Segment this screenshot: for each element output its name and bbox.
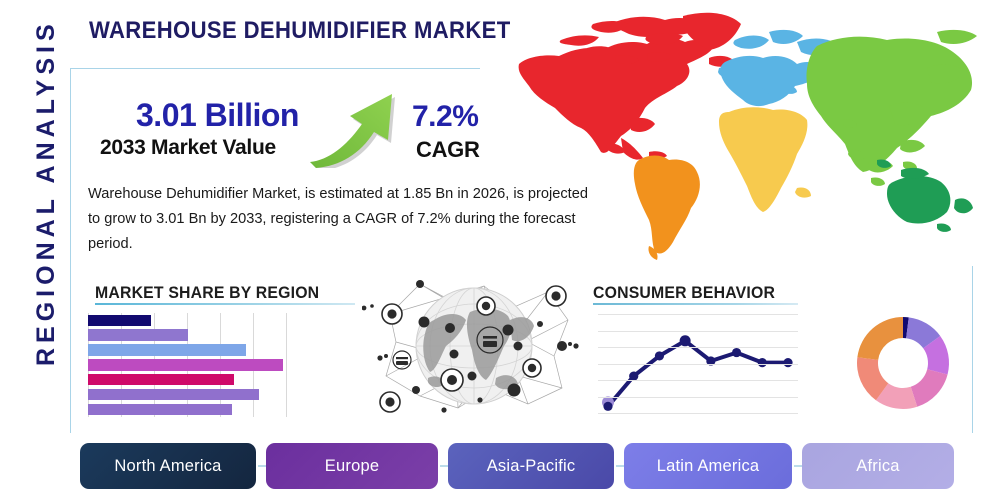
gridline [598, 364, 798, 365]
bar-5 [88, 374, 234, 385]
consumer-behavior-donut-chart [851, 311, 955, 415]
section-rule-consumer-behavior [593, 303, 798, 305]
global-network-globe-icon [362, 268, 586, 424]
region-tab-africa[interactable]: Africa [802, 443, 954, 489]
market-value-caption: 2033 Market Value [100, 136, 276, 160]
market-share-bar-chart [88, 313, 288, 417]
donut-segment-4 [911, 369, 948, 407]
region-tab-label: Europe [325, 457, 379, 476]
page-title: WAREHOUSE DEHUMIDIFIER MARKET [89, 17, 511, 45]
bar-7 [88, 404, 232, 415]
marker-3 [655, 351, 664, 360]
marker-6 [732, 348, 741, 357]
region-tab-asia-pacific[interactable]: Asia-Pacific [448, 443, 614, 489]
section-title-market-share: MARKET SHARE BY REGION [95, 283, 319, 303]
market-value-figure: 3.01 Billion [136, 97, 299, 134]
gridline [598, 347, 798, 348]
marker-1 [603, 402, 612, 411]
region-tab-label: Africa [856, 457, 899, 476]
bar-6 [88, 389, 259, 400]
gridline [598, 397, 798, 398]
infographic-root: REGIONAL ANALYSIS WAREHOUSE DEHUMIDIFIER… [0, 0, 1000, 500]
growth-arrow-icon [300, 88, 410, 168]
section-rule-market-share [95, 303, 355, 305]
region-tab-europe[interactable]: Europe [266, 443, 438, 489]
region-tab-label: Asia-Pacific [487, 457, 576, 476]
bar-3 [88, 344, 246, 355]
bar-1 [88, 315, 151, 326]
region-tab-north-america[interactable]: North America [80, 443, 256, 489]
region-tabs: North AmericaEuropeAsia-PacificLatin Ame… [80, 443, 920, 489]
region-tab-label: Latin America [657, 457, 760, 476]
region-tab-label: North America [114, 457, 221, 476]
donut-segment-7 [857, 317, 903, 360]
cagr-caption: CAGR [416, 137, 480, 163]
gridline [598, 314, 798, 315]
side-label: REGIONAL ANALYSIS [32, 86, 72, 366]
bar-2 [88, 329, 188, 340]
gridline [598, 413, 798, 414]
market-description: Warehouse Dehumidifier Market, is estima… [88, 182, 598, 257]
region-tab-latin-america[interactable]: Latin America [624, 443, 792, 489]
cagr-figure: 7.2% [412, 100, 478, 134]
consumer-behavior-line-chart [598, 310, 798, 416]
marker-4 [680, 335, 691, 346]
gridline [598, 331, 798, 332]
bar-4 [88, 359, 283, 370]
gridline [598, 380, 798, 381]
section-title-consumer-behavior: CONSUMER BEHAVIOR [593, 283, 775, 303]
